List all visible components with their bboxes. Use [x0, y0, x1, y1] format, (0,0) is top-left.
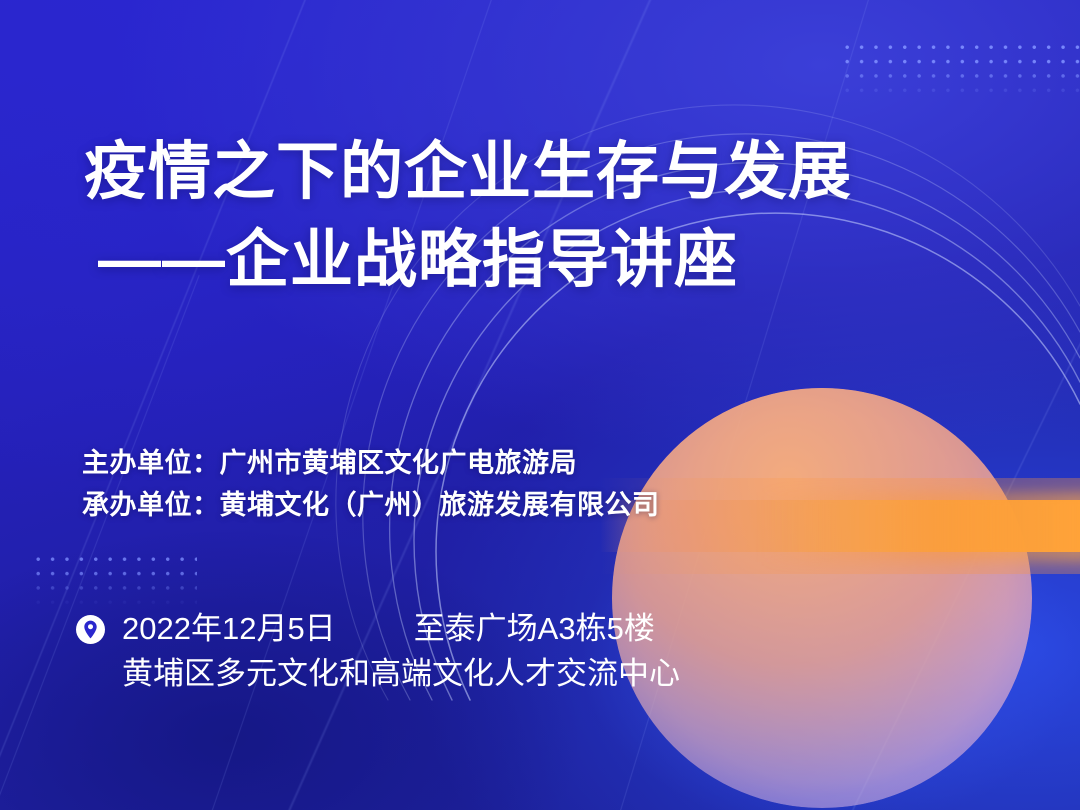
- title-line-2: ——企业战略指导讲座: [84, 216, 1004, 304]
- map-pin-icon: [76, 615, 105, 644]
- event-details-row: 2022年12月5日 至泰广场A3栋5楼: [76, 608, 776, 650]
- event-date: 2022年12月5日: [122, 609, 336, 649]
- page-title: 疫情之下的企业生存与发展 ——企业战略指导讲座: [84, 128, 1004, 304]
- organizer-host: 主办单位：广州市黄埔区文化广电旅游局: [82, 442, 660, 484]
- event-details: 2022年12月5日 至泰广场A3栋5楼 黄埔区多元文化和高端文化人才交流中心: [76, 608, 776, 696]
- orange-sphere-highlight: [612, 388, 1032, 808]
- event-venue-line-1: 至泰广场A3栋5楼: [414, 609, 655, 649]
- orange-beam-glow: [760, 492, 1080, 562]
- organizer-block: 主办单位：广州市黄埔区文化广电旅游局 承办单位：黄埔文化（广州）旅游发展有限公司: [82, 442, 660, 526]
- title-line-1: 疫情之下的企业生存与发展: [84, 128, 1004, 216]
- event-poster: 疫情之下的企业生存与发展 ——企业战略指导讲座 主办单位：广州市黄埔区文化广电旅…: [0, 0, 1080, 810]
- event-venue-line-2: 黄埔区多元文化和高端文化人才交流中心: [122, 652, 776, 696]
- organizer-coordinator: 承办单位：黄埔文化（广州）旅游发展有限公司: [82, 484, 660, 526]
